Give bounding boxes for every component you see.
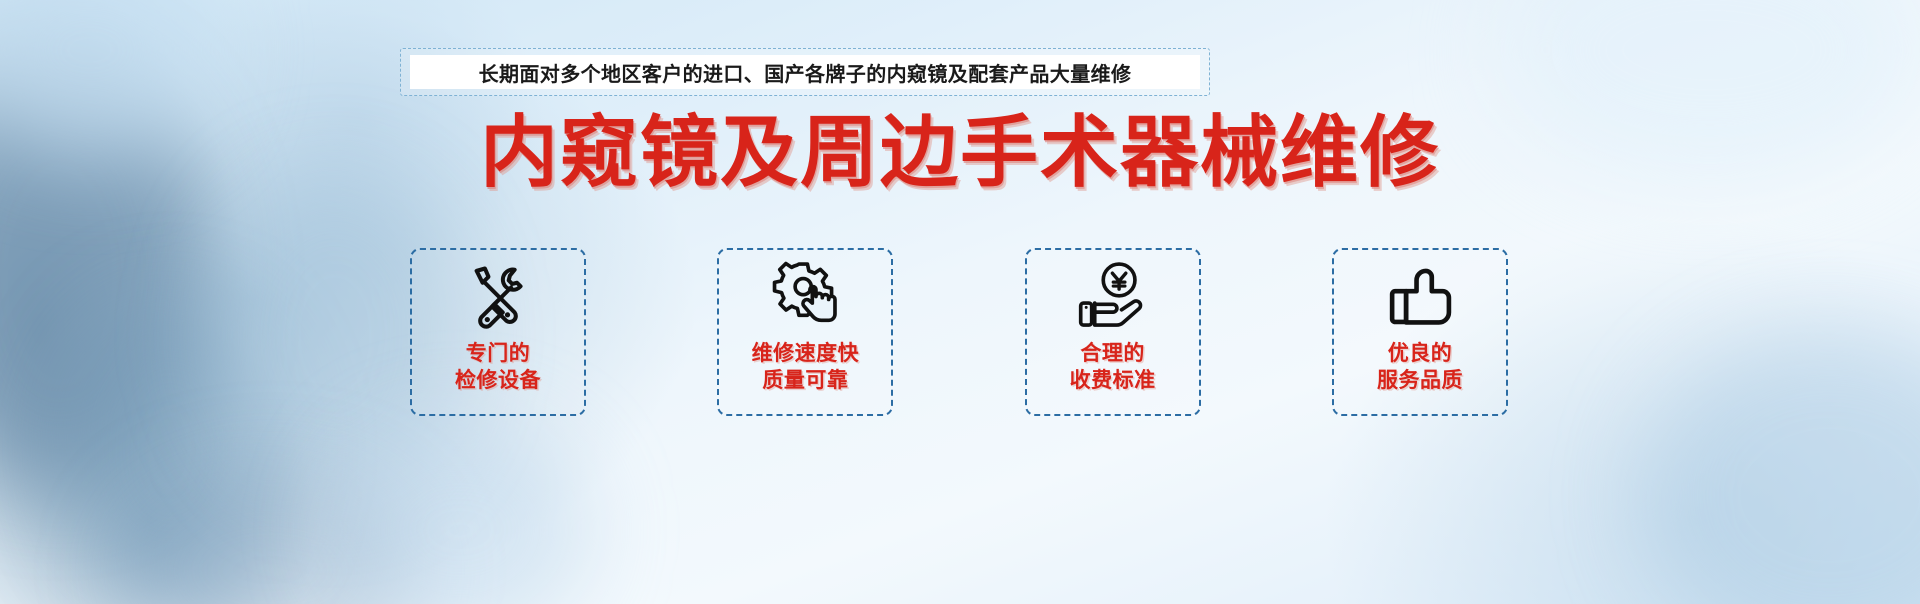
feature-card-label: 合理的 收费标准 [1070, 340, 1156, 394]
feature-label-line2: 检修设备 [455, 367, 541, 394]
feature-label-line2: 质量可靠 [752, 367, 860, 394]
screwdriver-wrench-icon [412, 254, 584, 340]
feature-card-label: 优良的 服务品质 [1377, 340, 1463, 394]
feature-card-pricing[interactable]: 合理的 收费标准 [1025, 248, 1201, 416]
page-title: 内窥镜及周边手术器械维修 [0, 112, 1920, 195]
banner-content: 长期面对多个地区客户的进口、国产各牌子的内窥镜及配套产品大量维修 内窥镜及周边手… [0, 0, 1920, 604]
feature-card-repair-equipment[interactable]: 专门的 检修设备 [410, 248, 586, 416]
feature-label-line1: 优良的 [1388, 341, 1453, 365]
gear-hand-click-icon [719, 254, 891, 340]
feature-card-label: 维修速度快 质量可靠 [752, 340, 860, 394]
subtitle-inner-box: 长期面对多个地区客户的进口、国产各牌子的内窥镜及配套产品大量维修 [410, 55, 1200, 89]
feature-card-list: 专门的 检修设备 维修速度快 质量可靠 [410, 248, 1508, 416]
feature-label-line1: 专门的 [466, 341, 531, 365]
hand-yuan-coin-icon [1027, 254, 1199, 340]
feature-label-line1: 合理的 [1080, 341, 1145, 365]
thumbs-up-icon [1334, 254, 1506, 340]
feature-label-line1: 维修速度快 [752, 341, 860, 365]
subtitle-text: 长期面对多个地区客户的进口、国产各牌子的内窥镜及配套产品大量维修 [479, 58, 1132, 87]
promo-banner: 长期面对多个地区客户的进口、国产各牌子的内窥镜及配套产品大量维修 内窥镜及周边手… [0, 0, 1920, 604]
subtitle-box: 长期面对多个地区客户的进口、国产各牌子的内窥镜及配套产品大量维修 [400, 48, 1210, 96]
feature-card-service-quality[interactable]: 优良的 服务品质 [1332, 248, 1508, 416]
feature-label-line2: 收费标准 [1070, 367, 1156, 394]
feature-card-label: 专门的 检修设备 [455, 340, 541, 394]
feature-card-repair-speed[interactable]: 维修速度快 质量可靠 [717, 248, 893, 416]
feature-label-line2: 服务品质 [1377, 367, 1463, 394]
